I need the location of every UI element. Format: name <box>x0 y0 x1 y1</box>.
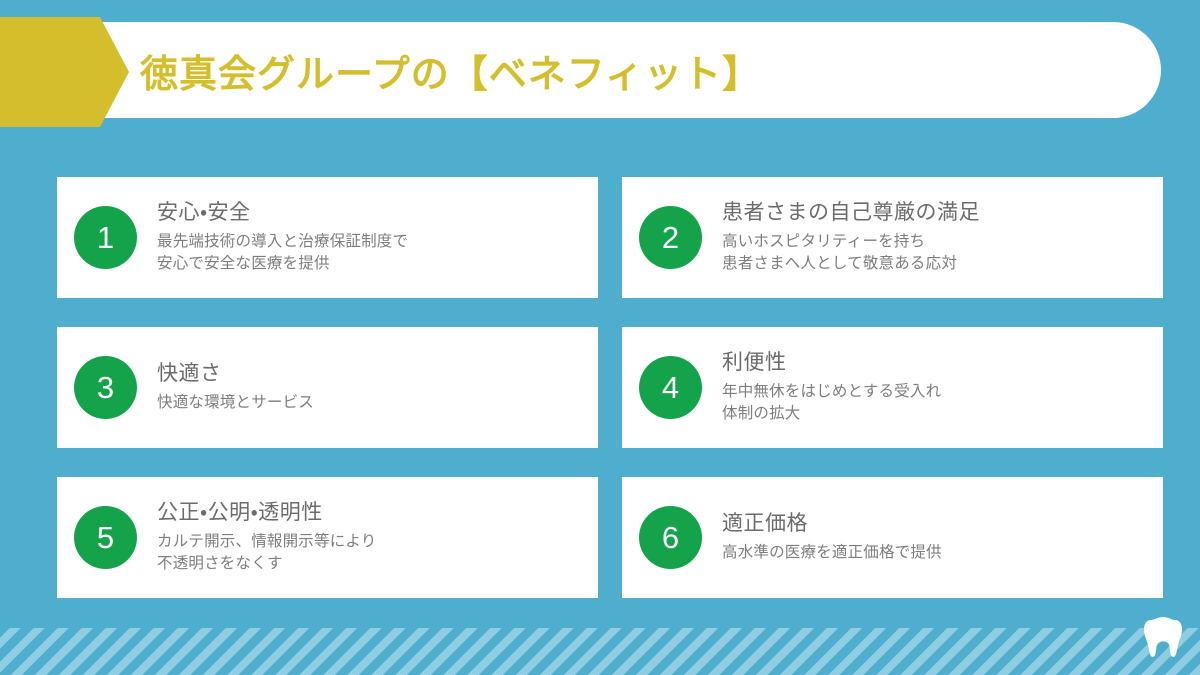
benefit-card-body: 患者さまの自己尊厳の満足 高いホスピタリティーを持ち 患者さまへ人として敬意ある… <box>702 200 1163 275</box>
benefit-card-6: 6 適正価格 高水準の医療を適正価格で提供 <box>622 477 1163 598</box>
benefit-card-4: 4 利便性 年中無休をはじめとする受入れ 体制の拡大 <box>622 327 1163 448</box>
benefit-description: 快適な環境とサービス <box>157 392 588 414</box>
benefit-card-grid: 1 安心・安全 最先端技術の導入と治療保証制度で 安心で安全な医療を提供 2 患… <box>57 177 1163 598</box>
benefit-title: 安心・安全 <box>157 200 588 226</box>
benefit-card-3: 3 快適さ 快適な環境とサービス <box>57 327 598 448</box>
diagonal-stripe-band <box>0 628 1200 675</box>
benefit-number-badge: 4 <box>639 356 702 419</box>
benefit-title: 適正価格 <box>722 511 1153 537</box>
benefit-number-badge: 1 <box>74 206 137 269</box>
benefit-description: 年中無休をはじめとする受入れ 体制の拡大 <box>722 381 1153 425</box>
benefit-card-1: 1 安心・安全 最先端技術の導入と治療保証制度で 安心で安全な医療を提供 <box>57 177 598 298</box>
tooth-icon <box>1143 615 1183 663</box>
benefit-description: 高いホスピタリティーを持ち 患者さまへ人として敬意ある応対 <box>722 231 1153 275</box>
benefit-card-body: 適正価格 高水準の医療を適正価格で提供 <box>702 511 1163 564</box>
benefit-description: カルテ開示、情報開示等により 不透明さをなくす <box>157 531 588 575</box>
benefit-card-body: 利便性 年中無休をはじめとする受入れ 体制の拡大 <box>702 350 1163 425</box>
benefit-card-body: 安心・安全 最先端技術の導入と治療保証制度で 安心で安全な医療を提供 <box>137 200 598 275</box>
page-title: 徳真会グループの【ベネフィット】 <box>140 22 761 118</box>
benefit-number-badge: 6 <box>639 506 702 569</box>
benefit-description: 最先端技術の導入と治療保証制度で 安心で安全な医療を提供 <box>157 231 588 275</box>
benefit-number-badge: 2 <box>639 206 702 269</box>
benefit-card-2: 2 患者さまの自己尊厳の満足 高いホスピタリティーを持ち 患者さまへ人として敬意… <box>622 177 1163 298</box>
benefit-description: 高水準の医療を適正価格で提供 <box>722 542 1153 564</box>
benefit-number-badge: 5 <box>74 506 137 569</box>
benefit-card-body: 公正・公明・透明性 カルテ開示、情報開示等により 不透明さをなくす <box>137 500 598 575</box>
benefit-title: 患者さまの自己尊厳の満足 <box>722 200 1153 226</box>
benefit-title: 公正・公明・透明性 <box>157 500 588 526</box>
benefit-number-badge: 3 <box>74 356 137 419</box>
benefit-title: 快適さ <box>157 361 588 387</box>
slide-canvas: 徳真会グループの【ベネフィット】 1 安心・安全 最先端技術の導入と治療保証制度… <box>0 0 1200 675</box>
benefit-title: 利便性 <box>722 350 1153 376</box>
benefit-card-5: 5 公正・公明・透明性 カルテ開示、情報開示等により 不透明さをなくす <box>57 477 598 598</box>
benefit-card-body: 快適さ 快適な環境とサービス <box>137 361 598 414</box>
